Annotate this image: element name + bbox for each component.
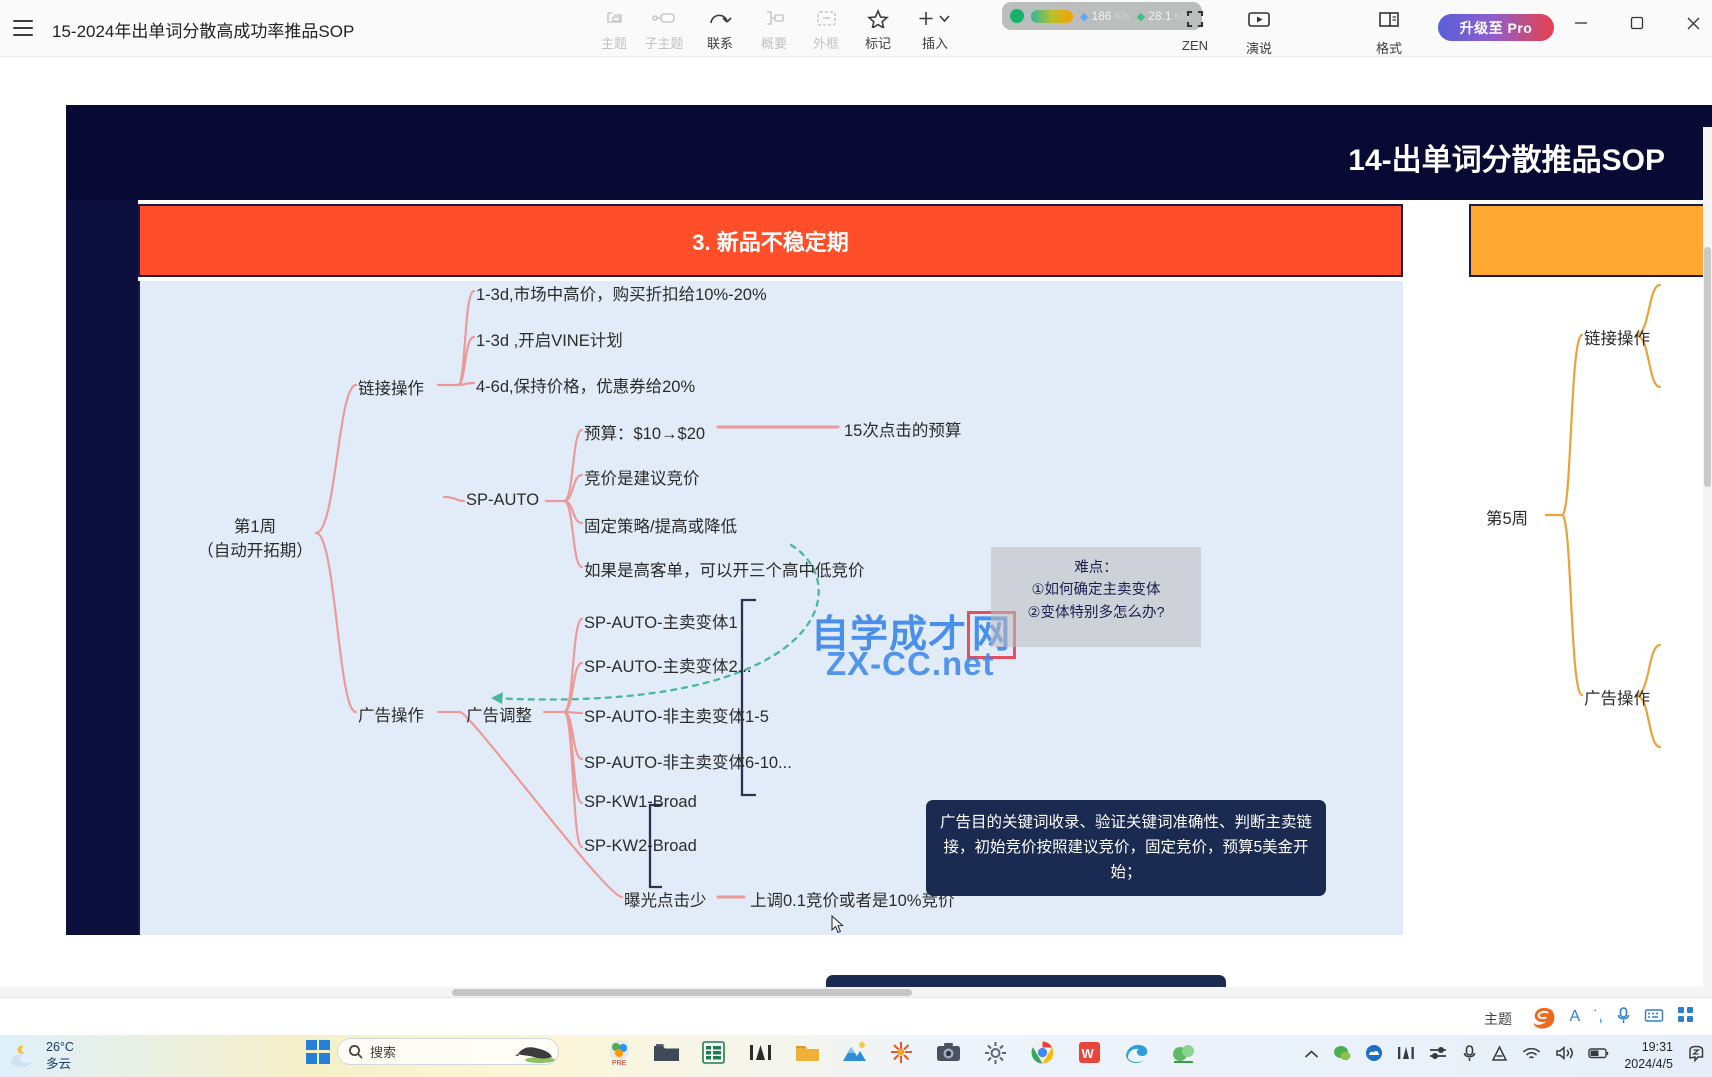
- mindmap-canvas[interactable]: 14-出单词分散推品SOP 3. 新品不稳定期: [0, 57, 1712, 997]
- folder-dark-icon[interactable]: [652, 1038, 681, 1067]
- taskbar-center: 搜索: [306, 1038, 559, 1065]
- node-right-ad-operation[interactable]: 广告操作: [1584, 685, 1650, 709]
- sliders-icon[interactable]: [1429, 1045, 1448, 1066]
- weather-text: 26°C 多云: [46, 1039, 74, 1073]
- node-sp-auto-child-1[interactable]: 预算：$10→$20: [584, 420, 705, 444]
- download-arrow-icon: ◆: [1080, 10, 1088, 23]
- node-link-child-3[interactable]: 4-6d,保持价格，优惠券给20%: [476, 373, 695, 397]
- toolbar-insert[interactable]: 插入: [905, 6, 965, 52]
- punctuation-icon[interactable]: ˙,: [1593, 1008, 1603, 1026]
- svg-text:PRE: PRE: [612, 1060, 627, 1067]
- chrome-icon[interactable]: [1028, 1038, 1057, 1067]
- download-speed: ◆ 186 K/s: [1080, 9, 1130, 23]
- node-sp-auto-child-3[interactable]: 固定策略/提高或降低: [584, 513, 737, 537]
- upgrade-pro-button[interactable]: 升级至 Pro: [1438, 14, 1554, 41]
- node-sp-auto[interactable]: SP-AUTO: [466, 491, 539, 510]
- node-exposure[interactable]: 曝光点击少: [624, 887, 707, 911]
- presentation-button[interactable]: 演说: [1228, 8, 1290, 57]
- node-link-child-1[interactable]: 1-3d,市场中高价，购买折扣给10%-20%: [476, 281, 767, 305]
- subtopic-icon: [634, 6, 694, 29]
- toolbar-boundary[interactable]: 外框: [796, 6, 856, 52]
- microphone-tray-icon[interactable]: [1462, 1044, 1477, 1067]
- play-box-icon: [1228, 8, 1290, 35]
- node-sp-auto-child-4[interactable]: 如果是高客单，可以开三个高中低竞价: [584, 557, 865, 581]
- node-ad-adjust[interactable]: 广告调整: [466, 702, 532, 726]
- column-gap: [1403, 281, 1469, 935]
- gradient-meter-icon: [1031, 10, 1073, 23]
- firework-app-icon[interactable]: [887, 1038, 916, 1067]
- node-ad-child-6[interactable]: SP-KW2-Broad: [584, 837, 697, 856]
- font-A-icon[interactable]: A: [1570, 1008, 1581, 1026]
- horizontal-scrollbar-thumb[interactable]: [452, 989, 912, 996]
- horizontal-scrollbar[interactable]: [0, 987, 1712, 997]
- status-theme-label[interactable]: 主题: [1484, 1009, 1512, 1029]
- star-icon: [848, 6, 908, 29]
- system-tray: 19:31 2024/4/5: [1304, 1039, 1706, 1073]
- taskbar-apps: PRE W: [605, 1038, 1198, 1067]
- wifi-icon[interactable]: [1522, 1046, 1541, 1066]
- microphone-icon[interactable]: [1616, 1006, 1631, 1029]
- mindmap-header-bar: 14-出单词分散推品SOP: [66, 105, 1712, 200]
- excel-icon[interactable]: [699, 1038, 728, 1067]
- toolbar-relation[interactable]: 联系: [690, 6, 750, 52]
- svg-text:W: W: [1082, 1046, 1095, 1061]
- title-bar: 15-2024年出单词分散高成功率推品SOP 主题 子主题 联系 概要 外框: [0, 0, 1712, 57]
- ime-toolbar[interactable]: A ˙,: [1530, 1003, 1694, 1031]
- phase-title: 3. 新品不稳定期: [692, 225, 848, 257]
- node-ad-child-1[interactable]: SP-AUTO-主卖变体1: [584, 609, 738, 633]
- phase-body-next: [1469, 281, 1712, 935]
- hamburger-menu-icon[interactable]: [10, 15, 36, 41]
- window-maximize-button[interactable]: [1614, 0, 1660, 46]
- node-link-child-2[interactable]: 1-3d ,开启VINE计划: [476, 327, 623, 351]
- xmind-tray-icon[interactable]: [1397, 1044, 1415, 1067]
- node-budget-note[interactable]: 15次点击的预算: [844, 417, 961, 441]
- relation-arrow-icon: [690, 6, 750, 29]
- boundary-icon: [796, 6, 856, 29]
- taskbar-clock[interactable]: 19:31 2024/4/5: [1624, 1039, 1673, 1073]
- wps-icon[interactable]: W: [1075, 1038, 1104, 1067]
- keyboard-icon[interactable]: [1644, 1007, 1664, 1028]
- node-sp-auto-child-2[interactable]: 竞价是建议竞价: [584, 465, 700, 489]
- format-panel-button[interactable]: 格式: [1358, 8, 1420, 57]
- apps-grid-icon[interactable]: [1677, 1006, 1694, 1028]
- toolbar-summary[interactable]: 概要: [744, 6, 804, 52]
- zen-mode-button[interactable]: ZEN: [1164, 8, 1226, 53]
- weather-widget[interactable]: 26°C 多云: [8, 1039, 74, 1073]
- window-minimize-button[interactable]: [1558, 0, 1604, 46]
- onedrive-icon[interactable]: [1365, 1044, 1383, 1067]
- toolbar-subtopic[interactable]: 子主题: [634, 6, 694, 52]
- node-ad-child-3[interactable]: SP-AUTO-非主卖变体1-5: [584, 703, 769, 727]
- upload-arrow-icon: ◆: [1137, 10, 1145, 23]
- status-bar: 主题 A ˙,: [0, 997, 1712, 1035]
- mindmap-header-title: 14-出单词分散推品SOP: [1348, 135, 1665, 179]
- node-right-link-operation[interactable]: 链接操作: [1584, 325, 1650, 349]
- wechat-icon[interactable]: [1333, 1044, 1351, 1067]
- mountain-app-icon[interactable]: [840, 1038, 869, 1067]
- search-icon: [348, 1044, 363, 1059]
- central-node[interactable]: 第1周 （自动开拓期）: [190, 513, 320, 561]
- antivirus-A-icon[interactable]: [1491, 1045, 1508, 1067]
- node-ad-child-5[interactable]: SP-KW1-Broad: [584, 793, 697, 812]
- gray-note-box[interactable]: 难点： ①如何确定主卖变体 ②变体特别多怎么办?: [991, 547, 1201, 647]
- node-exposure-child[interactable]: 上调0.1竞价或者是10%竞价: [750, 887, 954, 911]
- xmind-icon[interactable]: [746, 1038, 775, 1067]
- anteater-illustration: [514, 1040, 556, 1064]
- taskbar-search[interactable]: 搜索: [337, 1038, 559, 1065]
- chevron-up-icon[interactable]: [1304, 1047, 1319, 1065]
- mindmap-frame: 14-出单词分散推品SOP 3. 新品不稳定期: [66, 105, 1712, 935]
- vertical-scrollbar-thumb[interactable]: [1704, 247, 1711, 487]
- node-ad-child-4[interactable]: SP-AUTO-非主卖变体6-10...: [584, 749, 792, 773]
- fullscreen-brackets-icon: [1164, 8, 1226, 35]
- phase-header-next[interactable]: [1469, 204, 1712, 277]
- settings-gear-icon[interactable]: [981, 1038, 1010, 1067]
- vertical-scrollbar[interactable]: [1703, 127, 1712, 997]
- edge-icon[interactable]: [1122, 1038, 1151, 1067]
- node-link-operation[interactable]: 链接操作: [358, 375, 424, 399]
- sogou-logo-icon[interactable]: [1530, 1004, 1557, 1031]
- notifications-icon[interactable]: [1687, 1044, 1706, 1068]
- node-ad-child-2[interactable]: SP-AUTO-主卖变体2...: [584, 653, 751, 677]
- mouse-cursor: [831, 915, 844, 934]
- dark-note-ad-purpose[interactable]: 广告目的关键词收录、验证关键词准确性、判断主卖链接，初始竞价按照建议竞价，固定竞…: [926, 800, 1326, 896]
- green-app-icon[interactable]: [1169, 1038, 1198, 1067]
- plus-chevron-icon: [905, 6, 965, 29]
- status-dot-icon: [1010, 9, 1024, 23]
- battery-icon[interactable]: [1588, 1046, 1610, 1065]
- camera-app-icon[interactable]: [934, 1038, 963, 1067]
- summary-icon: [744, 6, 804, 29]
- search-placeholder: 搜索: [370, 1042, 396, 1061]
- window-close-button[interactable]: [1670, 0, 1712, 46]
- pre-app-icon[interactable]: PRE: [605, 1038, 634, 1067]
- document-title: 15-2024年出单词分散高成功率推品SOP: [52, 17, 354, 42]
- panel-layout-icon: [1358, 8, 1420, 35]
- phase-header-current[interactable]: 3. 新品不稳定期: [138, 204, 1403, 277]
- toolbar-marker[interactable]: 标记: [848, 6, 908, 52]
- left-spine: [66, 200, 138, 935]
- node-ad-operation[interactable]: 广告操作: [358, 702, 424, 726]
- windows-start-icon[interactable]: [306, 1040, 330, 1064]
- watermark-line-2: ZX-CC.net: [826, 645, 995, 683]
- partly-cloudy-night-icon: [8, 1041, 38, 1071]
- file-explorer-icon[interactable]: [793, 1038, 822, 1067]
- taskbar: 26°C 多云 搜索 PRE: [0, 1035, 1712, 1077]
- volume-icon[interactable]: [1555, 1045, 1574, 1066]
- node-week-5[interactable]: 第5周: [1486, 505, 1528, 529]
